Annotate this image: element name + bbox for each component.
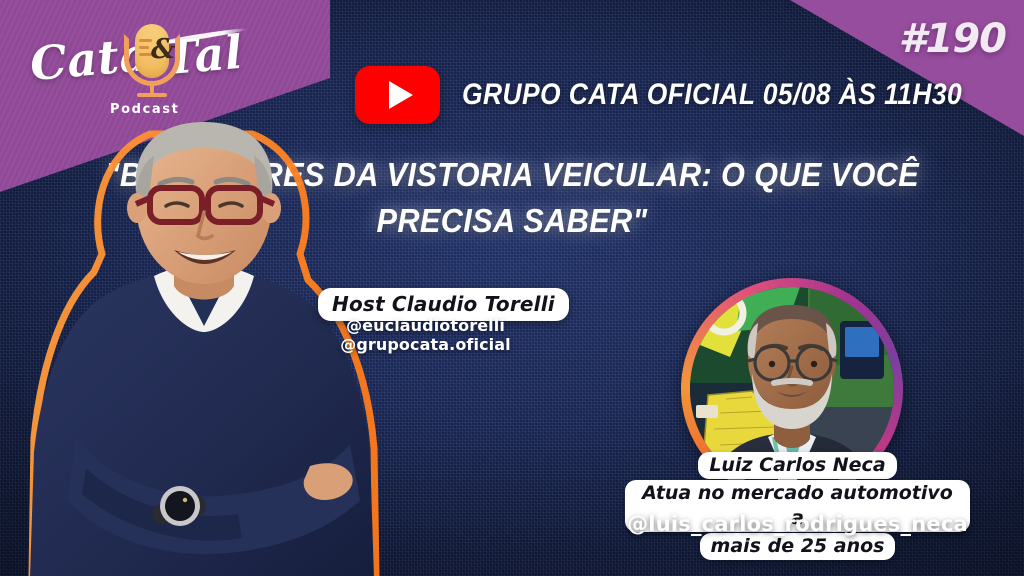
host-handles: @euclaudiotorelli @grupocata.oficial	[318, 316, 533, 354]
guest-name: Luiz Carlos Neca	[698, 452, 896, 479]
logo-ampersand: &	[151, 35, 173, 65]
podcast-episode-poster: Cata Tal & Podcast #190 GRUPO CATA OFICI…	[0, 0, 1024, 576]
host-handle-primary[interactable]: @euclaudiotorelli	[318, 316, 533, 335]
play-triangle	[389, 81, 413, 109]
guest-caption: Luiz Carlos Neca Atua no mercado automot…	[625, 452, 970, 561]
guest-handle[interactable]: @luis_carlos_rodrigues_neca	[625, 512, 970, 536]
guest-bio-line-2: mais de 25 anos	[700, 533, 896, 560]
microphone-base	[137, 93, 167, 97]
microphone-icon: &	[120, 22, 184, 100]
channel-schedule-text: GRUPO CATA OFICIAL 05/08 ÀS 11H30	[462, 78, 962, 112]
episode-number: #190	[899, 16, 1006, 62]
channel-schedule-row: GRUPO CATA OFICIAL 05/08 ÀS 11H30	[355, 66, 1024, 124]
host-handle-secondary[interactable]: @grupocata.oficial	[318, 335, 533, 354]
podcast-logo: Cata Tal & Podcast	[24, 16, 256, 108]
